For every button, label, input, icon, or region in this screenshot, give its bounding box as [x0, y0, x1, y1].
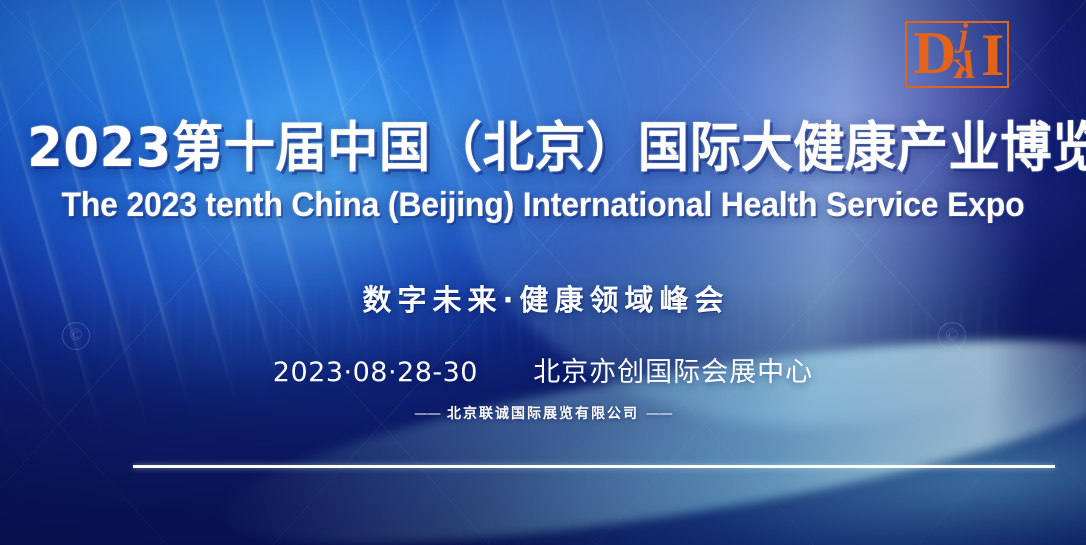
organizer-logo: D j k I: [905, 21, 1009, 88]
logo-letter-k-icon: k: [950, 45, 976, 85]
page-title-english: The 2023 tenth China (Beijing) Internati…: [33, 186, 1054, 224]
summit-theme: 数字未来·健康领域峰会: [0, 283, 1086, 317]
organizer-dash-right: ——: [646, 406, 672, 422]
headline-block: 2023第十届中国（北京）国际大健康产业博览会 The 2023 tenth C…: [0, 119, 1086, 224]
copyright-watermark-right: ©: [938, 322, 966, 350]
logo-monogram: D j k I: [907, 23, 1007, 86]
expo-banner: © © D j k I 2023第十届中国（北京）国际大健康产业博览会 The …: [0, 0, 1086, 545]
event-date: 2023·08·28-30: [273, 357, 478, 388]
organizer-name: 北京联诚国际展览有限公司: [447, 406, 639, 422]
page-title-chinese: 2023第十届中国（北京）国际大健康产业博览会: [27, 119, 1059, 177]
organizer-dash-left: ——: [414, 406, 440, 422]
organizer-line: —— 北京联诚国际展览有限公司 ——: [0, 405, 1086, 424]
logo-letter-d-icon: D: [913, 21, 954, 85]
horizontal-divider: [133, 465, 1055, 468]
event-meta: 2023·08·28-30 北京亦创国际会展中心: [0, 357, 1086, 389]
event-venue: 北京亦创国际会展中心: [533, 357, 813, 388]
logo-letter-i-icon: I: [981, 24, 1004, 86]
copyright-watermark-left: ©: [62, 322, 90, 350]
